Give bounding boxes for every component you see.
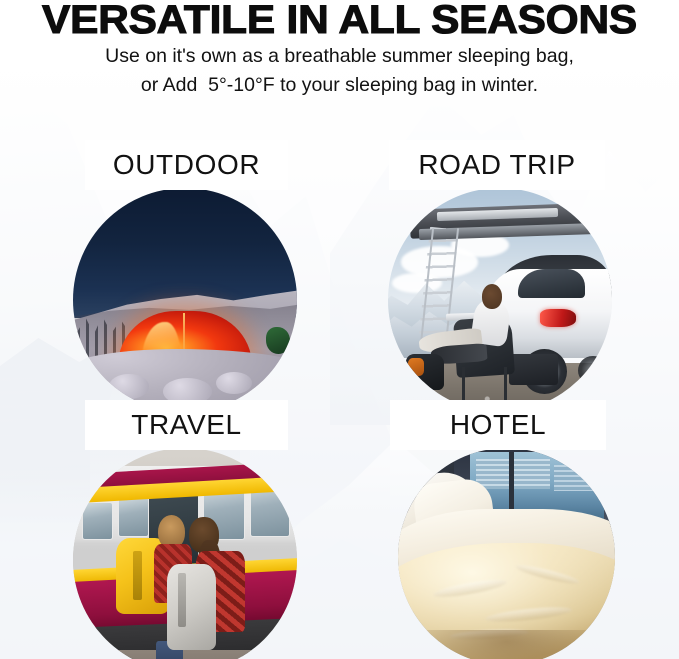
label-box-hotel: HOTEL bbox=[390, 400, 606, 450]
label-hotel: HOTEL bbox=[450, 409, 546, 441]
road-trip-car-photo bbox=[388, 188, 612, 412]
person-head bbox=[482, 284, 502, 309]
platform-floor bbox=[73, 650, 297, 659]
grey-backpack-strap bbox=[178, 573, 186, 627]
label-box-road-trip: ROAD TRIP bbox=[389, 140, 605, 190]
green-gear bbox=[266, 327, 291, 354]
train-window-2 bbox=[118, 497, 149, 537]
label-travel: TRAVEL bbox=[131, 409, 241, 441]
orange-bag-detail bbox=[408, 358, 424, 376]
snow-lump-1 bbox=[109, 374, 149, 399]
yellow-backpack-strap bbox=[133, 551, 142, 600]
car-wheel-front bbox=[578, 356, 607, 385]
car-window bbox=[518, 269, 585, 298]
hotel-scene bbox=[398, 448, 615, 659]
chair-leg-2 bbox=[504, 367, 507, 403]
travel-scene bbox=[73, 448, 297, 659]
outdoor-scene bbox=[73, 188, 297, 412]
chair-leg-1 bbox=[462, 367, 465, 403]
page-title: VERSATILE IN ALL SEASONS bbox=[0, 0, 679, 39]
snow-lump-3 bbox=[216, 372, 252, 394]
train-window-1 bbox=[82, 502, 113, 540]
label-box-outdoor: OUTDOOR bbox=[85, 140, 288, 190]
infographic-page: VERSATILE IN ALL SEASONS Use on it's own… bbox=[0, 0, 679, 659]
city-building-2 bbox=[554, 465, 602, 491]
header: VERSATILE IN ALL SEASONS Use on it's own… bbox=[0, 0, 679, 97]
subtitle-line-2: or Add 5°-10°F to your sleeping bag in w… bbox=[0, 68, 679, 97]
storage-box bbox=[509, 354, 558, 385]
label-road-trip: ROAD TRIP bbox=[418, 149, 575, 181]
label-outdoor: OUTDOOR bbox=[113, 149, 260, 181]
travel-train-photo bbox=[73, 448, 297, 659]
subtitle-line-1: Use on it's own as a breathable summer s… bbox=[0, 39, 679, 68]
hotel-bed-photo bbox=[398, 448, 615, 659]
label-box-travel: TRAVEL bbox=[85, 400, 288, 450]
duvet-shadow bbox=[398, 630, 615, 659]
grey-backpack bbox=[167, 564, 216, 649]
outdoor-tent-photo bbox=[73, 188, 297, 412]
car-taillight bbox=[540, 309, 576, 327]
road-trip-scene bbox=[388, 188, 612, 412]
